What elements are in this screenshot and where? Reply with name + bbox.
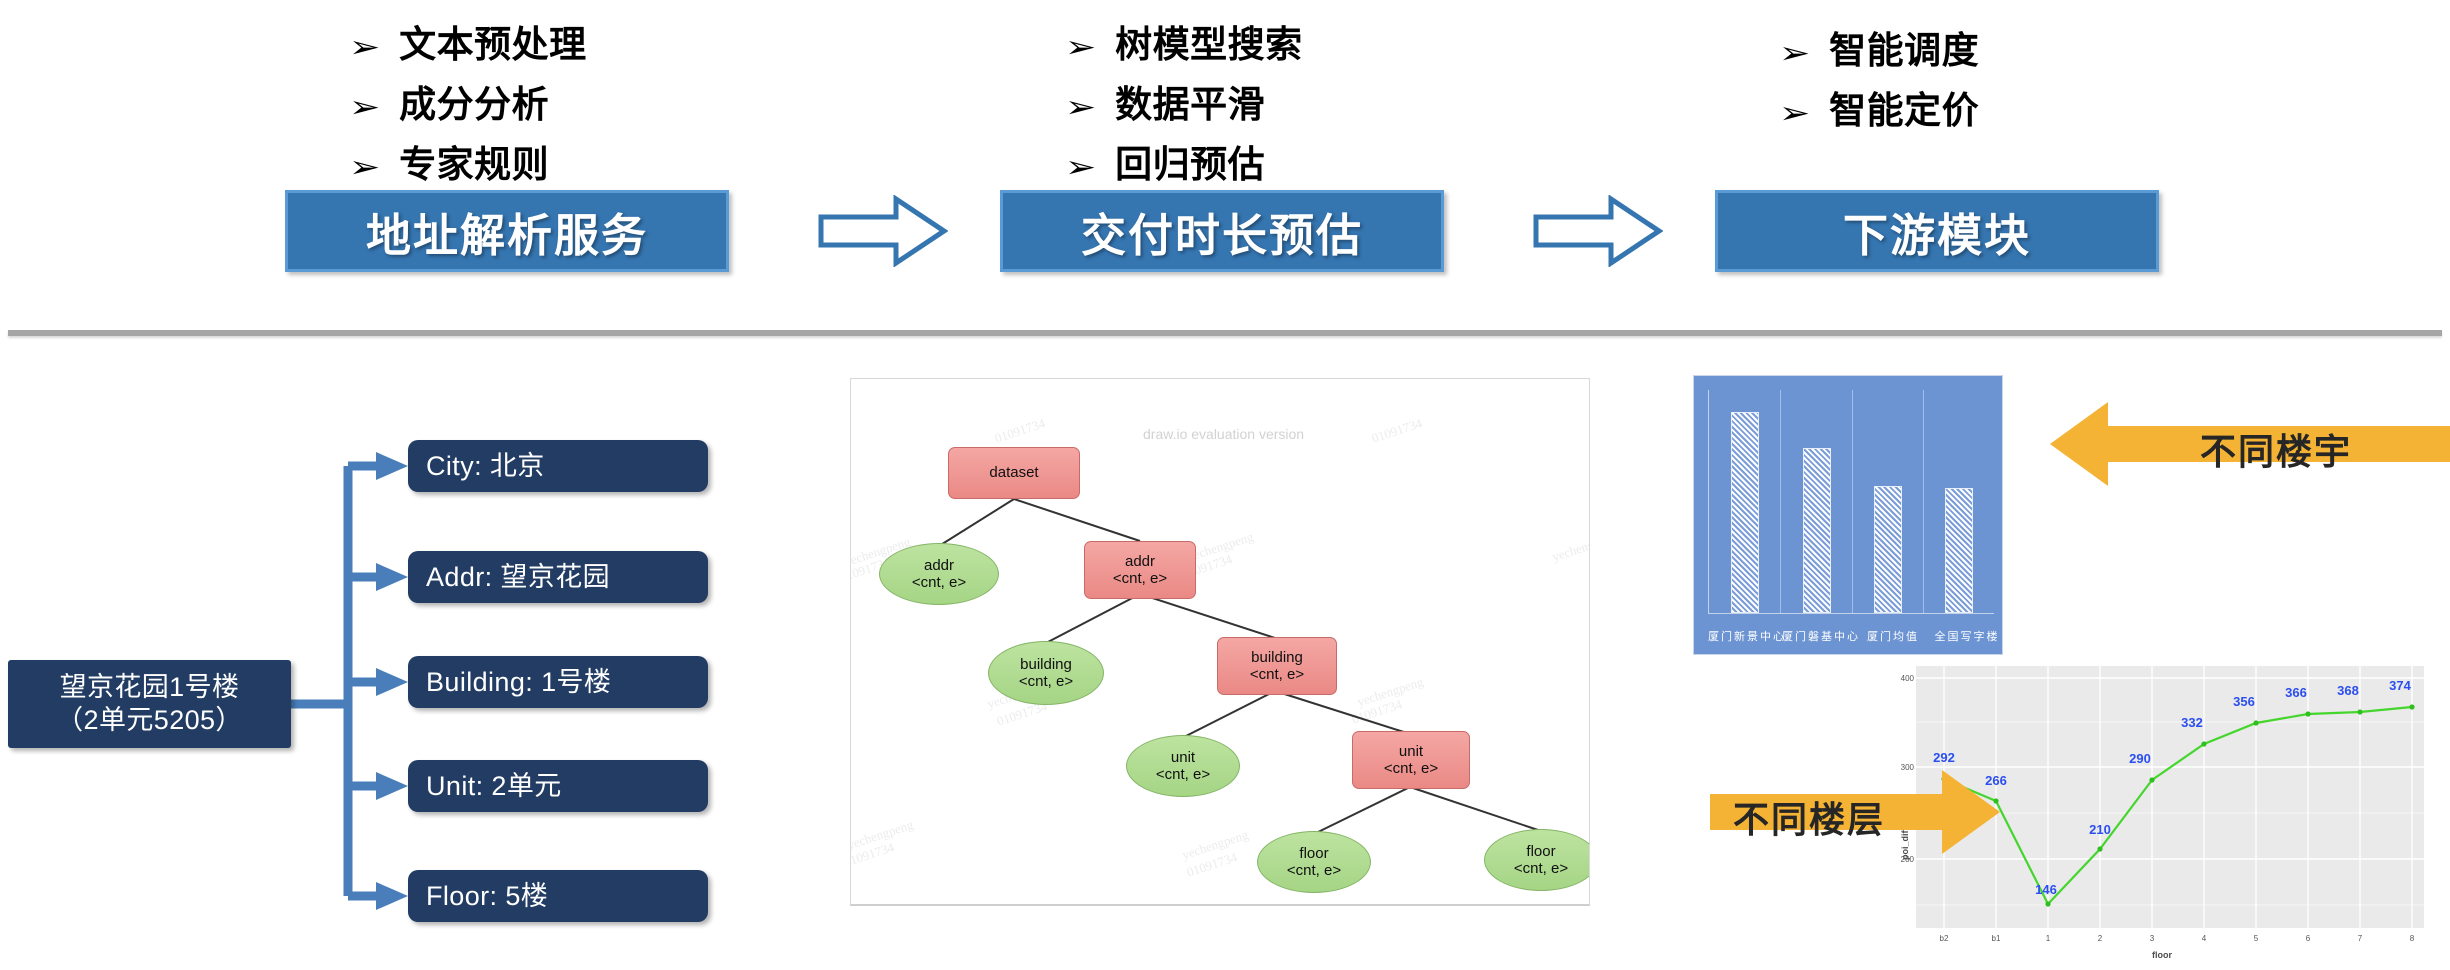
- tree-node-floor-left[interactable]: floor <cnt, e>: [1257, 831, 1371, 893]
- address-parse-tree: 望京花园1号楼 （2单元5205） City: 北京 Addr: 望京花园 Bu…: [0, 410, 740, 970]
- tree-node-floor-right[interactable]: floor <cnt, e>: [1484, 829, 1590, 891]
- data-label: 290: [2114, 751, 2166, 766]
- arrowhead-bullet-icon: ➢: [349, 33, 380, 63]
- bar-category-label: 厦门均值: [1856, 628, 1930, 644]
- bullet-label: 智能调度: [1829, 20, 1979, 74]
- address-input-box[interactable]: 望京花园1号楼 （2单元5205）: [8, 660, 291, 748]
- tree-node-label: unit: [1171, 749, 1195, 766]
- callout-label-buildings: 不同楼宇: [2200, 423, 2352, 475]
- tree-node-sublabel: <cnt, e>: [1384, 760, 1438, 777]
- tree-node-label: building: [1020, 656, 1072, 673]
- pipeline-section: ➢ 文本预处理 ➢ 成分分析 ➢ 专家规则 ➢ 树模型搜索 ➢ 数据平滑 ➢ 回…: [0, 0, 2450, 330]
- arrowhead-bullet-icon: ➢: [1779, 99, 1810, 129]
- tree-node-sublabel: <cnt, e>: [912, 574, 966, 591]
- tree-node-building-leaf[interactable]: building <cnt, e>: [988, 641, 1104, 705]
- address-field-building[interactable]: Building: 1号楼: [408, 656, 708, 708]
- address-field-city[interactable]: City: 北京: [408, 440, 708, 492]
- bullet-item: ➢ 数据平滑: [1068, 74, 1303, 128]
- stage-box-label: 交付时长预估: [1081, 199, 1363, 264]
- stage-box-address-parsing[interactable]: 地址解析服务: [285, 190, 729, 272]
- tree-node-label: floor: [1299, 845, 1328, 862]
- decision-tree-panel: draw.io evaluation version 01091734 0109…: [850, 378, 1590, 906]
- address-input-line-2: （2单元5205）: [56, 704, 243, 737]
- tree-node-sublabel: <cnt, e>: [1250, 666, 1304, 683]
- bullet-item: ➢ 智能调度: [1782, 20, 1979, 74]
- bullet-label: 数据平滑: [1115, 74, 1265, 128]
- data-label: 292: [1918, 750, 1970, 765]
- x-axis-label: floor: [2152, 950, 2172, 960]
- bullet-label: 成分分析: [399, 74, 549, 128]
- bullet-item: ➢ 树模型搜索: [1068, 14, 1303, 68]
- tree-node-sublabel: <cnt, e>: [1514, 860, 1568, 877]
- bullet-label: 智能定价: [1829, 80, 1979, 134]
- bar-slot: [1780, 390, 1852, 613]
- stage-3-bullets: ➢ 智能调度 ➢ 智能定价: [1782, 20, 1979, 140]
- bar-xiamen-panji: [1803, 448, 1831, 613]
- bullet-label: 回归预估: [1115, 134, 1265, 188]
- stage-2-bullets: ➢ 树模型搜索 ➢ 数据平滑 ➢ 回归预估: [1068, 14, 1303, 194]
- bar-national-office: [1945, 488, 1973, 613]
- arrowhead-bullet-icon: ➢: [1065, 33, 1096, 63]
- arrowhead-bullet-icon: ➢: [349, 153, 380, 183]
- tree-node-sublabel: <cnt, e>: [1287, 862, 1341, 879]
- bullet-label: 专家规则: [399, 134, 549, 188]
- bar-xiamen-xinjing: [1731, 412, 1759, 613]
- address-field-label: Addr: 望京花园: [426, 561, 610, 594]
- bar-slot: [1852, 390, 1924, 613]
- address-field-label: City: 北京: [426, 450, 545, 483]
- flow-arrow-1-icon: [818, 195, 948, 267]
- data-label: 210: [2074, 822, 2126, 837]
- stage-box-label: 地址解析服务: [366, 199, 648, 264]
- stage-1-bullets: ➢ 文本预处理 ➢ 成分分析 ➢ 专家规则: [352, 14, 587, 194]
- arrowhead-bullet-icon: ➢: [349, 93, 380, 123]
- callout-label-floors: 不同楼层: [1733, 791, 1885, 843]
- x-tick: 7: [2342, 934, 2378, 943]
- bar-category-label: 全国写字楼: [1930, 628, 2004, 644]
- bullet-item: ➢ 智能定价: [1782, 80, 1979, 134]
- address-field-addr[interactable]: Addr: 望京花园: [408, 551, 708, 603]
- x-tick: 1: [2030, 934, 2066, 943]
- x-tick: 5: [2238, 934, 2274, 943]
- tree-node-label: floor: [1526, 843, 1555, 860]
- address-field-label: Unit: 2单元: [426, 770, 562, 803]
- data-label: 332: [2166, 715, 2218, 730]
- tree-node-sublabel: <cnt, e>: [1113, 570, 1167, 587]
- section-divider: [8, 330, 2442, 336]
- x-tick: 2: [2082, 934, 2118, 943]
- tree-node-addr-leaf[interactable]: addr <cnt, e>: [879, 543, 999, 605]
- bullet-item: ➢ 成分分析: [352, 74, 587, 128]
- y-tick-400: 400: [1892, 674, 1914, 683]
- bullet-item: ➢ 回归预估: [1068, 134, 1303, 188]
- tree-node-label: unit: [1399, 743, 1423, 760]
- arrowhead-bullet-icon: ➢: [1779, 39, 1810, 69]
- flow-arrow-2-icon: [1533, 195, 1663, 267]
- tree-node-dataset[interactable]: dataset: [948, 447, 1080, 499]
- tree-node-addr[interactable]: addr <cnt, e>: [1084, 541, 1196, 599]
- tree-node-label: addr: [1125, 553, 1155, 570]
- address-field-label: Floor: 5楼: [426, 880, 548, 913]
- stage-box-downstream-modules[interactable]: 下游模块: [1715, 190, 2159, 272]
- data-label: 146: [2020, 882, 2072, 897]
- bar-chart-plot-area: [1708, 390, 1994, 614]
- bullet-label: 树模型搜索: [1115, 14, 1303, 68]
- tree-node-sublabel: <cnt, e>: [1156, 766, 1210, 783]
- bullet-item: ➢ 文本预处理: [352, 14, 587, 68]
- address-input-line-1: 望京花园1号楼: [60, 671, 240, 704]
- x-tick: 6: [2290, 934, 2326, 943]
- bullet-item: ➢ 专家规则: [352, 134, 587, 188]
- bar-slot: [1709, 390, 1780, 613]
- building-bar-chart: 厦门新景中心 厦门磐基中心 厦门均值 全国写字楼: [1693, 375, 2003, 655]
- stage-box-label: 下游模块: [1843, 199, 2031, 264]
- bullet-label: 文本预处理: [399, 14, 587, 68]
- tree-node-label: addr: [924, 557, 954, 574]
- data-label: 374: [2374, 678, 2426, 693]
- x-tick: 8: [2394, 934, 2430, 943]
- tree-node-unit-leaf[interactable]: unit <cnt, e>: [1126, 735, 1240, 797]
- address-field-label: Building: 1号楼: [426, 666, 611, 699]
- x-tick: b1: [1978, 934, 2014, 943]
- tree-node-label: building: [1251, 649, 1303, 666]
- tree-node-sublabel: <cnt, e>: [1019, 673, 1073, 690]
- data-label: 368: [2322, 683, 2374, 698]
- x-tick: 3: [2134, 934, 2170, 943]
- address-field-unit[interactable]: Unit: 2单元: [408, 760, 708, 812]
- data-label: 356: [2218, 694, 2270, 709]
- address-field-floor[interactable]: Floor: 5楼: [408, 870, 708, 922]
- bar-category-label: 厦门新景中心: [1708, 628, 1782, 644]
- tree-node-label: dataset: [989, 464, 1038, 481]
- stage-box-delivery-time-estimation[interactable]: 交付时长预估: [1000, 190, 1444, 272]
- bar-xiamen-average: [1874, 486, 1902, 613]
- arrowhead-bullet-icon: ➢: [1065, 153, 1096, 183]
- arrowhead-bullet-icon: ➢: [1065, 93, 1096, 123]
- tree-node-building[interactable]: building <cnt, e>: [1217, 637, 1337, 695]
- bar-slot: [1923, 390, 1995, 613]
- x-tick: b2: [1926, 934, 1962, 943]
- bar-category-label: 厦门磐基中心: [1782, 628, 1856, 644]
- x-tick: 4: [2186, 934, 2222, 943]
- tree-node-unit[interactable]: unit <cnt, e>: [1352, 731, 1470, 789]
- data-label: 366: [2270, 685, 2322, 700]
